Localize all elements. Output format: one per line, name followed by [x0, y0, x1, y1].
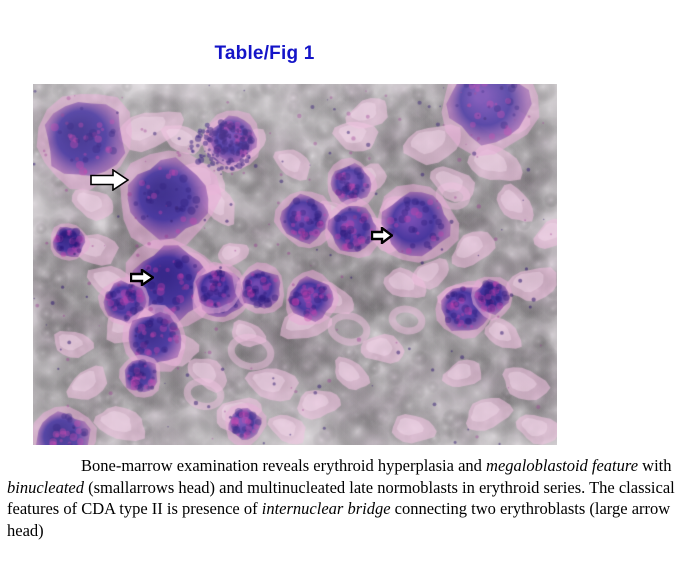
page-title: Table/Fig 1 [0, 43, 529, 65]
arrow-right-small-icon [130, 269, 154, 286]
micrograph-image [33, 84, 557, 445]
figure-caption: Bone-marrow examination reveals erythroi… [7, 455, 675, 541]
caption-segment-5: internuclear bridge [262, 499, 391, 518]
caption-segment-1: megaloblastoid feature [486, 456, 638, 475]
bone-marrow-micrograph [33, 84, 557, 445]
arrow-right-large-icon [90, 169, 129, 191]
arrow-right-small-icon [371, 227, 393, 244]
caption-segment-3: binucleated [7, 478, 84, 497]
caption-segment-0: Bone-marrow examination reveals erythroi… [81, 456, 486, 475]
caption-segment-2: with [638, 456, 671, 475]
